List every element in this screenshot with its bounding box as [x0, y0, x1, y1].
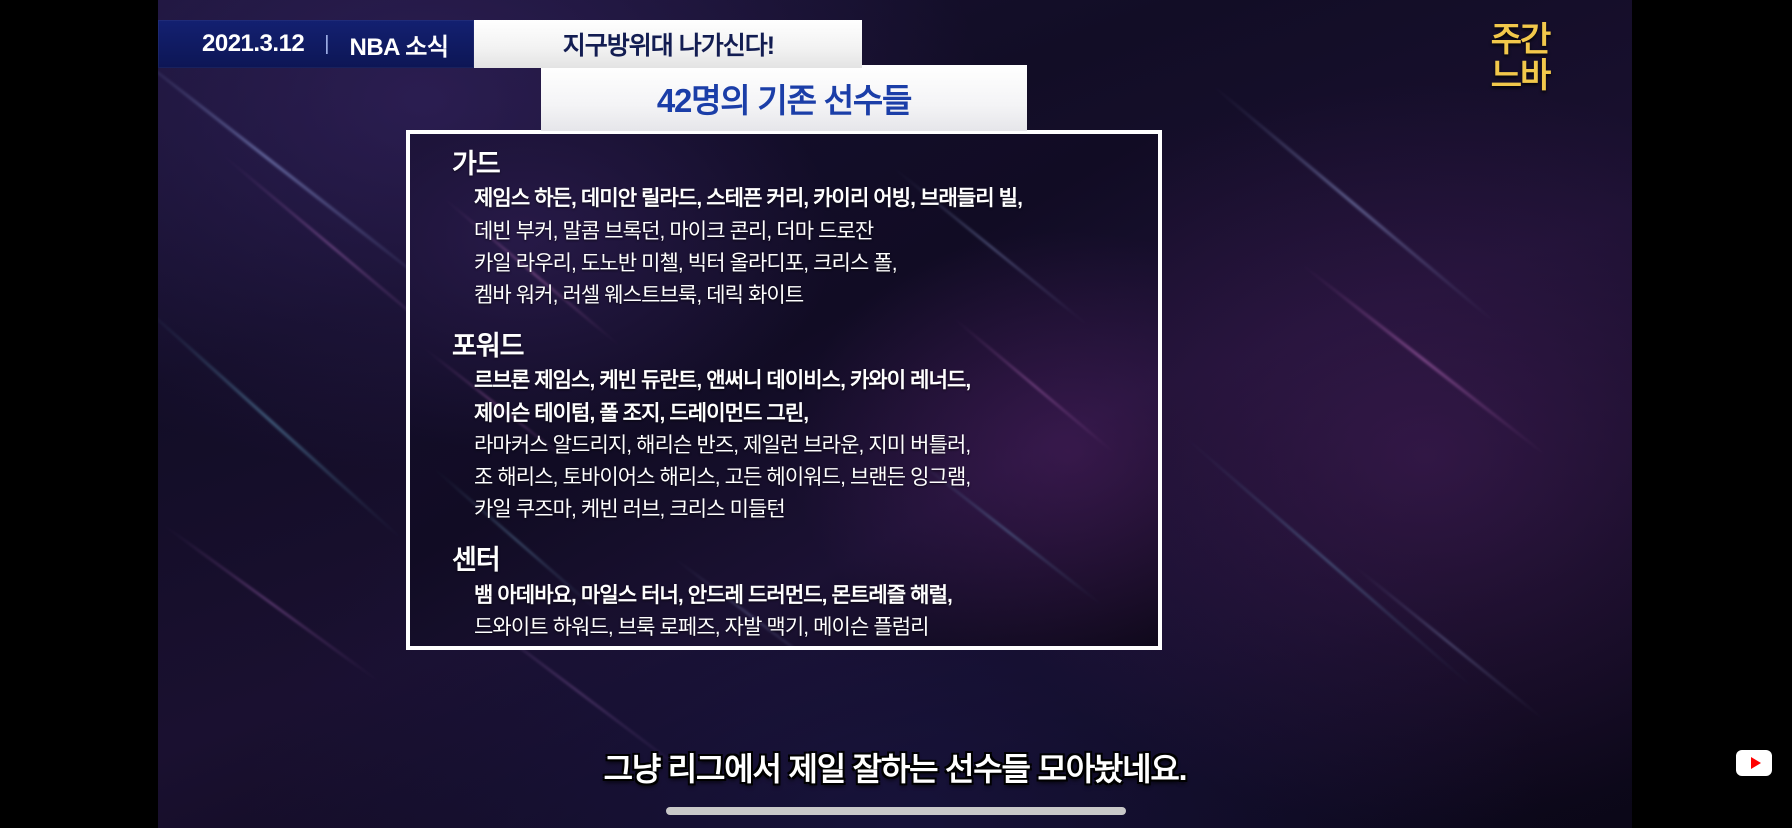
roster-panel: 가드 제임스 하든, 데미안 릴라드, 스테픈 커리, 카이리 어빙, 브래들리… [406, 130, 1162, 650]
video-frame[interactable]: 2021.3.12 | NBA 소식 지구방위대 나가신다! 42명의 기존 선… [158, 0, 1632, 828]
youtube-icon[interactable] [1736, 750, 1772, 776]
broadcast-date: 2021.3.12 [202, 30, 304, 58]
broadcast-meta-block: 2021.3.12 | NBA 소식 [158, 20, 474, 68]
subtitle-text: 그냥 리그에서 제일 잘하는 선수들 모아놨네요. [604, 744, 1187, 790]
roster-group-guard: 가드 제임스 하든, 데미안 릴라드, 스테픈 커리, 카이리 어빙, 브래들리… [452, 148, 1158, 312]
roster-line: 켐바 워커, 러셀 웨스트브룩, 데릭 화이트 [474, 280, 1158, 312]
roster-line: 르브론 제임스, 케빈 듀란트, 앤써니 데이비스, 카와이 레너드, [474, 365, 1158, 397]
subtitle-caption: 그냥 리그에서 제일 잘하는 선수들 모아놨네요. [158, 744, 1632, 790]
roster-group-title-center: 센터 [452, 544, 1158, 577]
roster-lines-center: 뱀 아데바요, 마일스 터너, 안드레 드러먼드, 몬트레즐 해럴, 드와이트 … [452, 580, 1158, 644]
roster-spacer [452, 532, 1158, 544]
channel-logo: 주간 느바 [1470, 16, 1570, 100]
roster-line: 드와이트 하워드, 브룩 로페즈, 자발 맥기, 메이슨 플럼리 [474, 612, 1158, 644]
roster-lines-forward: 르브론 제임스, 케빈 듀란트, 앤써니 데이비스, 카와이 레너드, 제이슨 … [452, 365, 1158, 526]
roster-line: 라마커스 알드리지, 해리슨 반즈, 제일런 브라운, 지미 버틀러, [474, 430, 1158, 462]
roster-list: 가드 제임스 하든, 데미안 릴라드, 스테픈 커리, 카이리 어빙, 브래들리… [410, 134, 1158, 644]
broadcast-headline: 지구방위대 나가신다! [563, 26, 774, 62]
roster-line: 제이슨 테이텀, 폴 조지, 드레이먼드 그린, [474, 398, 1158, 430]
scrollbar[interactable] [0, 806, 1792, 816]
play-triangle-icon [1751, 757, 1761, 769]
channel-logo-line1: 주간 [1491, 23, 1550, 57]
letterbox-right [1632, 0, 1792, 828]
meta-separator: | [324, 33, 329, 56]
letterbox-left [0, 0, 158, 828]
video-player-screen: 2021.3.12 | NBA 소식 지구방위대 나가신다! 42명의 기존 선… [0, 0, 1792, 828]
roster-group-forward: 포워드 르브론 제임스, 케빈 듀란트, 앤써니 데이비스, 카와이 레너드, … [452, 330, 1158, 526]
roster-spacer [452, 318, 1158, 330]
roster-lines-guard: 제임스 하든, 데미안 릴라드, 스테픈 커리, 카이리 어빙, 브래들리 빌,… [452, 183, 1158, 312]
roster-line: 조 해리스, 토바이어스 해리스, 고든 헤이워드, 브랜든 잉그램, [474, 462, 1158, 494]
roster-line: 카일 쿠즈마, 케빈 러브, 크리스 미들턴 [474, 494, 1158, 526]
roster-line: 제임스 하든, 데미안 릴라드, 스테픈 커리, 카이리 어빙, 브래들리 빌, [474, 183, 1158, 215]
channel-logo-line2: 느바 [1491, 59, 1550, 93]
broadcast-info-bar: 2021.3.12 | NBA 소식 지구방위대 나가신다! [158, 20, 862, 68]
roster-line: 데빈 부커, 말콤 브록던, 마이크 콘리, 더마 드로잔 [474, 216, 1158, 248]
roster-group-center: 센터 뱀 아데바요, 마일스 터너, 안드레 드러먼드, 몬트레즐 해럴, 드와… [452, 544, 1158, 644]
roster-title-text: 42명의 기존 선수들 [657, 74, 911, 122]
roster-title-plate: 42명의 기존 선수들 [541, 65, 1027, 131]
roster-line: 뱀 아데바요, 마일스 터너, 안드레 드러먼드, 몬트레즐 해럴, [474, 580, 1158, 612]
roster-group-title-forward: 포워드 [452, 330, 1158, 363]
scrollbar-thumb[interactable] [666, 807, 1126, 815]
roster-line: 카일 라우리, 도노반 미첼, 빅터 올라디포, 크리스 폴, [474, 248, 1158, 280]
roster-group-title-guard: 가드 [452, 148, 1158, 181]
broadcast-category: NBA 소식 [349, 27, 448, 62]
broadcast-headline-block: 지구방위대 나가신다! [474, 20, 862, 68]
